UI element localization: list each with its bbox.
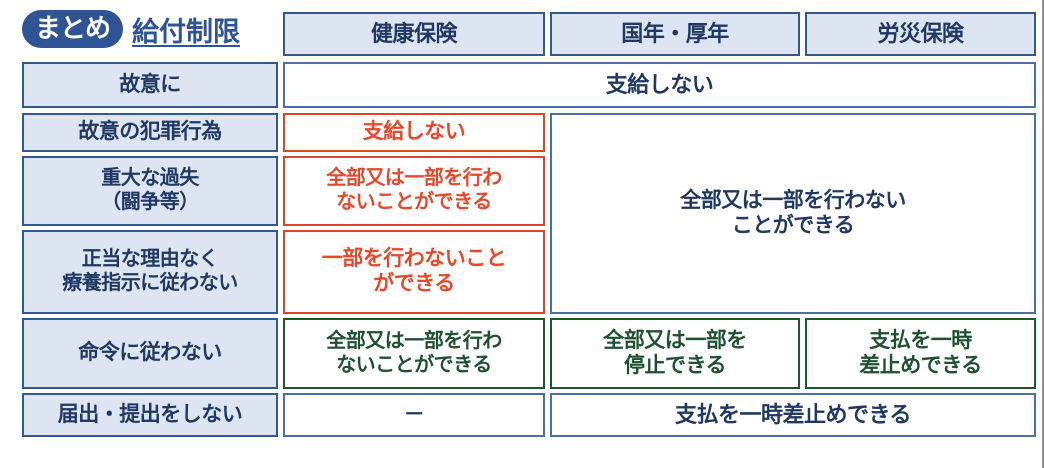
row-label-届出-提出をしない: 届出・提出をしない bbox=[22, 393, 278, 437]
row-label-故意に: 故意に bbox=[22, 62, 278, 108]
cell-r2-c1: 支給しない bbox=[283, 113, 545, 152]
cell-r3-c1: 全部又は一部を行わ ないことができる bbox=[283, 156, 545, 226]
cell-r5-c3: 支払を一時 差止めできる bbox=[805, 318, 1036, 389]
cell-r2-c2: 全部又は一部を行わない ことができる bbox=[550, 113, 1036, 314]
row-label-正当な理由なく-療養指示に従わない: 正当な理由なく 療養指示に従わない bbox=[22, 230, 278, 314]
slide-canvas: まとめ 給付制限 健康保険国年・厚年労災保険故意に支給しない故意の犯罪行為支給し… bbox=[0, 0, 1044, 468]
row-label-故意の犯罪行為: 故意の犯罪行為 bbox=[22, 113, 278, 152]
cell-r6-c2: 支払を一時差止めできる bbox=[550, 393, 1036, 437]
page-title-text: 給付制限 bbox=[132, 10, 240, 49]
column-header-3: 労災保険 bbox=[805, 12, 1036, 56]
cell-r5-c2: 全部又は一部を 停止できる bbox=[550, 318, 800, 389]
cell-r4-c1: 一部を行わないこと ができる bbox=[283, 230, 545, 314]
row-label-命令に従わない: 命令に従わない bbox=[22, 318, 278, 389]
cell-r1-c1: 支給しない bbox=[283, 62, 1036, 108]
cell-r6-c1: － bbox=[283, 393, 545, 437]
page-title: まとめ 給付制限 bbox=[22, 6, 240, 52]
column-header-1: 健康保険 bbox=[283, 12, 545, 56]
matome-badge: まとめ bbox=[22, 10, 123, 48]
cell-r5-c1: 全部又は一部を行わ ないことができる bbox=[283, 318, 545, 389]
column-header-2: 国年・厚年 bbox=[550, 12, 800, 56]
row-label-重大な過失--闘争等-: 重大な過失 （闘争等） bbox=[22, 156, 278, 226]
